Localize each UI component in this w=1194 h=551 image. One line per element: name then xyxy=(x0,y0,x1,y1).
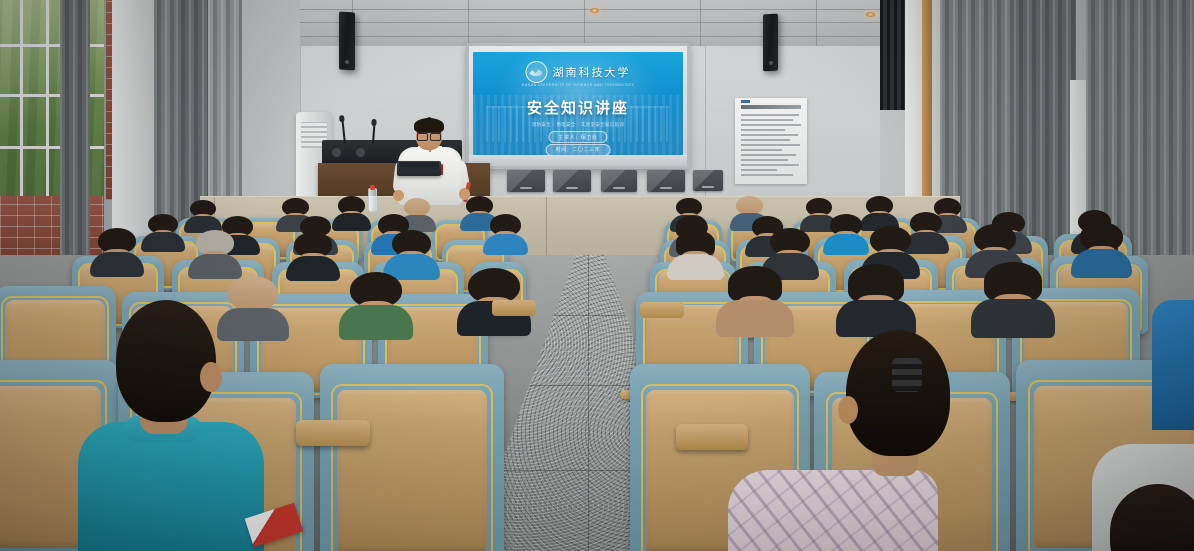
folded-panel xyxy=(507,170,545,192)
slide-subtitle: 消防安全 · 用电安全 · 实验室安全知识培训 xyxy=(532,122,624,128)
folded-panel xyxy=(693,170,723,191)
slide-presenter-pill: 主讲人：保卫处 xyxy=(548,131,607,143)
presenter-laptop[interactable] xyxy=(397,161,441,176)
attendee-blue-shirt xyxy=(1152,300,1194,430)
attendee-ear xyxy=(200,362,222,392)
glasses-icon xyxy=(417,132,441,139)
attendee xyxy=(338,196,365,222)
attendee xyxy=(228,276,278,324)
water-bottle xyxy=(368,188,377,212)
attendee xyxy=(910,212,942,243)
attendee-foreground-right xyxy=(838,330,978,551)
ceiling-downlight xyxy=(590,8,599,13)
attendee-head xyxy=(116,300,216,422)
bottle-cap xyxy=(370,185,375,190)
display-chin xyxy=(469,155,687,166)
slide-screen: 湖南科技大学 HUNAN UNIVERSITY OF SCIENCE AND T… xyxy=(473,52,683,155)
lecture-hall-photo: 湖南科技大学 HUNAN UNIVERSITY OF SCIENCE AND T… xyxy=(0,0,1194,551)
attendee xyxy=(490,214,521,244)
attendee xyxy=(806,198,832,223)
window-left xyxy=(0,0,106,200)
attendee xyxy=(676,230,715,267)
attendee xyxy=(196,230,234,266)
slide-title: 安全知识讲座 xyxy=(527,97,629,118)
attendee xyxy=(148,214,178,242)
attendee-foreground-left xyxy=(96,300,228,551)
attendee xyxy=(870,226,911,265)
armrest xyxy=(640,302,684,318)
folded-panel xyxy=(647,170,685,192)
presenter-left-hand xyxy=(393,190,404,201)
slide-university-name: 湖南科技大学 xyxy=(553,64,631,80)
attendee-torso xyxy=(728,470,938,551)
slide-logo: 湖南科技大学 xyxy=(526,61,631,83)
attendee xyxy=(974,224,1016,264)
attendee xyxy=(848,264,904,318)
attendee xyxy=(466,196,493,222)
seat[interactable] xyxy=(320,364,504,551)
projection-display[interactable]: 湖南科技大学 HUNAN UNIVERSITY OF SCIENCE AND T… xyxy=(466,43,690,169)
ceiling-downlight xyxy=(866,12,875,17)
notice-badge xyxy=(741,100,750,103)
university-emblem-icon xyxy=(526,61,548,83)
attendee xyxy=(392,230,431,267)
attendee-ear xyxy=(838,396,858,424)
laptop-screen xyxy=(399,162,439,172)
attendee xyxy=(294,232,332,268)
armrest xyxy=(296,420,370,446)
wall-notice-poster: 课程安排表 xyxy=(735,98,807,184)
attendee xyxy=(98,228,136,264)
folded-panel xyxy=(601,170,637,192)
armrest xyxy=(676,424,748,450)
folded-panel xyxy=(553,170,591,192)
attendee xyxy=(830,214,862,244)
attendee xyxy=(190,200,216,224)
attendee xyxy=(1080,222,1123,263)
slide-date-pill: 时间：二〇二三年 xyxy=(546,144,611,155)
wall-speaker-right xyxy=(763,14,778,72)
hair-clip-icon xyxy=(892,358,922,392)
attendee xyxy=(866,196,893,222)
wall-speaker-left xyxy=(339,12,355,71)
attendee xyxy=(984,262,1042,318)
armrest xyxy=(492,300,536,316)
attendee xyxy=(770,228,810,266)
attendee xyxy=(350,272,402,322)
attendee xyxy=(728,266,782,318)
presenter-hair xyxy=(414,118,444,133)
attendee-head xyxy=(846,330,950,456)
slide-university-name-en: HUNAN UNIVERSITY OF SCIENCE AND TECHNOLO… xyxy=(522,83,635,87)
curtain-left-a xyxy=(60,0,90,262)
notice-title-bar xyxy=(741,105,801,109)
